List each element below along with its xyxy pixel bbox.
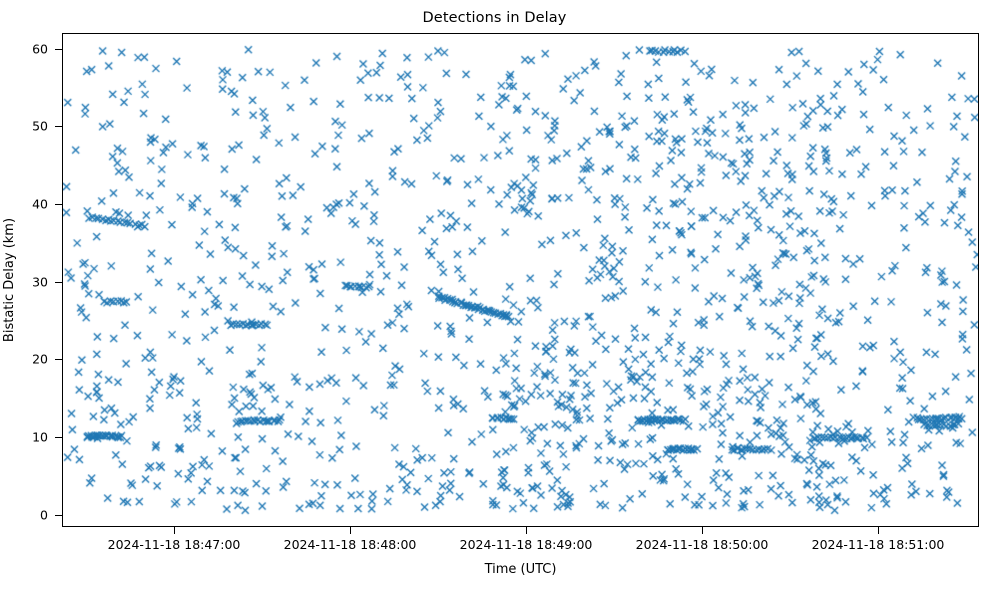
figure-canvas: Detections in Delay Bistatic Delay (km) …	[0, 0, 989, 590]
x-tick-mark	[702, 527, 703, 534]
y-tick-mark	[55, 49, 62, 50]
x-tick-label: 2024-11-18 18:48:00	[284, 537, 417, 552]
y-tick-mark	[55, 515, 62, 516]
y-tick-mark	[55, 282, 62, 283]
x-tick-label: 2024-11-18 18:51:00	[812, 537, 945, 552]
x-axis-label: Time (UTC)	[62, 562, 979, 577]
x-axis-tick-marks	[62, 527, 979, 537]
x-tick-label: 2024-11-18 18:47:00	[108, 537, 241, 552]
plot-area	[62, 33, 979, 527]
y-tick-mark	[55, 126, 62, 127]
scatter-points-layer	[63, 34, 978, 526]
y-axis-tick-marks	[0, 33, 62, 527]
x-tick-label: 2024-11-18 18:49:00	[460, 537, 593, 552]
x-tick-mark	[174, 527, 175, 534]
x-tick-mark	[526, 527, 527, 534]
y-tick-mark	[55, 359, 62, 360]
x-tick-mark	[878, 527, 879, 534]
chart-title: Detections in Delay	[0, 10, 989, 26]
x-axis-tick-labels: 2024-11-18 18:47:002024-11-18 18:48:0020…	[0, 537, 989, 557]
y-tick-mark	[55, 204, 62, 205]
x-tick-mark	[350, 527, 351, 534]
y-tick-mark	[55, 437, 62, 438]
x-tick-label: 2024-11-18 18:50:00	[636, 537, 769, 552]
